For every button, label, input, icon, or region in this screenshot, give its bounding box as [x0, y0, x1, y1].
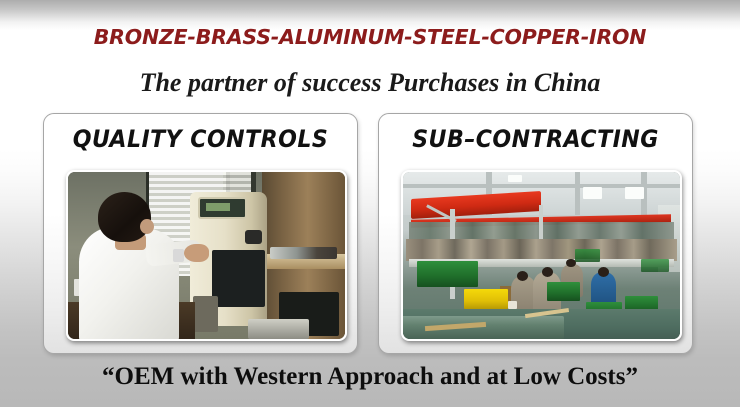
- worker-2-head: [542, 267, 553, 277]
- ceiling-light-3: [508, 175, 522, 182]
- subheadline-container: The partner of success Purchases in Chin…: [0, 68, 740, 98]
- tester-specimen-stage: [193, 296, 218, 333]
- lab-tool-case: [248, 319, 309, 339]
- technician-head: [98, 192, 151, 242]
- tester-front-panel: [212, 250, 265, 307]
- photo-sub-contracting: [403, 172, 680, 339]
- technician-watch: [173, 249, 184, 262]
- headline-container: BRONZE-BRASS-ALUMINUM-STEEL-COPPER-IRON: [0, 25, 740, 49]
- photo-frame-quality-controls: [66, 170, 347, 341]
- seated-worker-row: [406, 239, 677, 261]
- panel-title-sub-contracting: SUB–CONTRACTING: [392, 125, 680, 153]
- foreground-cup: [508, 301, 516, 309]
- tester-knob: [245, 230, 262, 243]
- promo-banner: BRONZE-BRASS-ALUMINUM-STEEL-COPPER-IRON …: [0, 0, 740, 407]
- ceiling-light-2: [625, 187, 644, 199]
- lab-shelf-tools: [270, 247, 336, 259]
- green-crate-2: [547, 282, 580, 300]
- ceiling-light-1: [583, 187, 602, 199]
- green-crate-stack: [417, 261, 478, 288]
- panel-quality-controls[interactable]: QUALITY CONTROLS: [43, 113, 358, 354]
- tagline: The partner of success Purchases in Chin…: [140, 68, 601, 97]
- green-crate-5: [575, 249, 600, 262]
- photo-quality-controls: [68, 172, 345, 339]
- technician-ear: [140, 219, 154, 234]
- materials-headline: BRONZE-BRASS-ALUMINUM-STEEL-COPPER-IRON: [94, 25, 647, 49]
- photo-frame-sub-contracting: [401, 170, 682, 341]
- ceiling-beam-3: [575, 172, 581, 215]
- technician-hand: [184, 244, 209, 262]
- panel-title-quality-controls: QUALITY CONTROLS: [57, 125, 345, 153]
- yellow-crate: [464, 289, 508, 309]
- oem-caption: “OEM with Western Approach and at Low Co…: [102, 363, 638, 390]
- green-crate-6: [641, 259, 669, 272]
- worker-1-head: [517, 271, 528, 281]
- footer-container: “OEM with Western Approach and at Low Co…: [0, 363, 740, 391]
- tester-display: [198, 197, 246, 219]
- panel-sub-contracting[interactable]: SUB–CONTRACTING: [378, 113, 693, 354]
